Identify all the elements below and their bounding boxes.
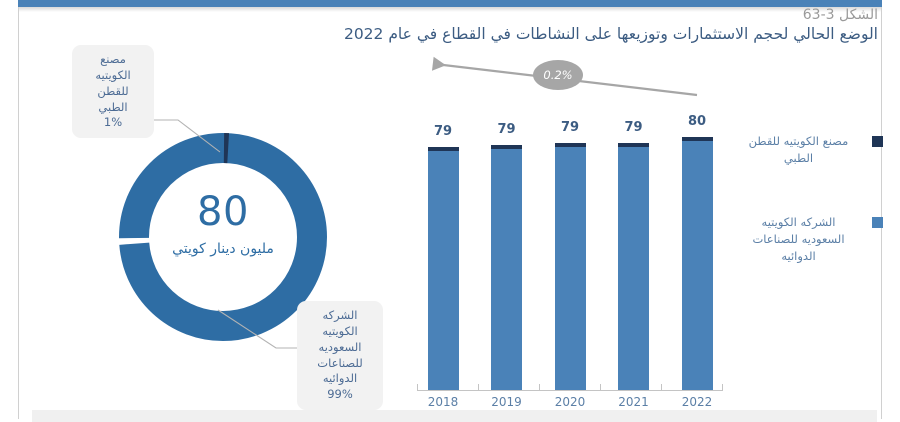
legend-swatch-icon [872, 136, 883, 147]
bar-stack [491, 145, 522, 390]
legend-label-line: الدوائيه [781, 249, 815, 263]
bottom-band [32, 410, 877, 422]
legend-label-line: مصنع الكويتيه للقطن [749, 134, 849, 148]
callout-percent: 99% [306, 387, 374, 403]
callout-line: الدوائيه [306, 371, 374, 387]
x-axis-tick [478, 384, 479, 391]
chart-legend: مصنع الكويتيه للقطن الطبي الشركه الكويتي… [733, 133, 883, 311]
bar-group-2019: 79 [479, 105, 535, 390]
x-axis-label-2019: 2019 [479, 395, 535, 409]
bar-stack [618, 143, 649, 390]
figure-number: الشكل 3-63 [803, 7, 878, 23]
bar-segment-pharma [428, 151, 459, 390]
frame-left-border [18, 7, 19, 419]
x-axis-label-2018: 2018 [415, 395, 471, 409]
figure-panel: الشكل 3-63 الوضع الحالي لحجم الاستثمارات… [0, 0, 900, 422]
bar-segment-pharma [555, 147, 586, 390]
callout-line: مصنع الكويتيه [81, 52, 145, 84]
legend-label-cotton: مصنع الكويتيه للقطن الطبي [733, 133, 864, 168]
callout-line: للصناعات [306, 356, 374, 372]
bar-group-2018: 79 [415, 105, 471, 390]
figure-title: الوضع الحالي لحجم الاستثمارات وتوزيعها ع… [344, 25, 878, 43]
x-axis-label-2022: 2022 [669, 395, 725, 409]
bar-segment-pharma [618, 147, 649, 390]
bar-value-label: 79 [624, 120, 642, 135]
legend-label-pharma: الشركه الكويتيه السعوديه للصناعات الدوائ… [733, 214, 864, 266]
bar-value-label: 79 [434, 124, 452, 139]
bar-group-2021: 79 [606, 105, 662, 390]
bar-value-label: 80 [688, 114, 706, 129]
legend-label-line: الطبي [784, 151, 813, 165]
legend-label-line: الشركه الكويتيه [762, 215, 836, 229]
bar-group-2022: 80 [669, 105, 725, 390]
bar-segment-pharma [682, 141, 713, 390]
legend-item-cotton: مصنع الكويتيه للقطن الطبي [733, 133, 883, 168]
bar-value-label: 79 [561, 120, 579, 135]
x-axis-label-2021: 2021 [606, 395, 662, 409]
bar-stack [682, 137, 713, 390]
trend-annotation: 0.2% [415, 52, 705, 104]
x-axis-tick [539, 384, 540, 391]
x-axis-tick [417, 384, 418, 391]
callout-percent: 1% [81, 115, 145, 131]
donut-callout-cotton: مصنع الكويتيه للقطن الطبي 1% [72, 45, 154, 138]
bar-value-label: 79 [497, 122, 515, 137]
callout-line: الشركه الكويتيه [306, 308, 374, 340]
callout-line: السعوديه [306, 340, 374, 356]
bar-segment-pharma [491, 149, 522, 390]
legend-swatch-icon [872, 217, 883, 228]
legend-item-pharma: الشركه الكويتيه السعوديه للصناعات الدوائ… [733, 214, 883, 266]
x-axis-label-2020: 2020 [542, 395, 598, 409]
top-rule-shadow [18, 7, 882, 12]
callout-line: للقطن الطبي [81, 84, 145, 116]
x-axis-line [417, 390, 723, 391]
bar-stack [555, 143, 586, 390]
legend-label-line: السعوديه للصناعات [752, 232, 844, 246]
bars-row: 80 79 79 79 [415, 105, 725, 390]
x-axis-tick [600, 384, 601, 391]
x-axis-labels: 2022 2021 2020 2019 2018 [415, 395, 725, 409]
bar-chart: 80 79 79 79 [415, 105, 725, 410]
bar-stack [428, 147, 459, 390]
donut-slice-main [134, 148, 312, 326]
top-accent-rule [18, 0, 882, 7]
bar-group-2020: 79 [542, 105, 598, 390]
trend-annotation-pill: 0.2% [533, 60, 583, 90]
donut-callout-pharma: الشركه الكويتيه السعوديه للصناعات الدوائ… [297, 301, 383, 410]
x-axis-tick [722, 384, 723, 391]
x-axis-tick [661, 384, 662, 391]
